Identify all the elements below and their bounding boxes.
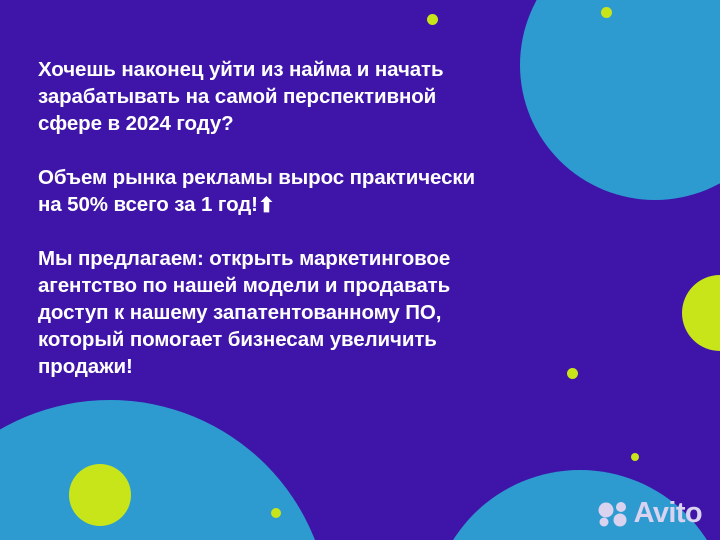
decorative-dot-bottom-left xyxy=(271,508,281,518)
decorative-dot-mid-right xyxy=(567,368,578,379)
decorative-circle-yellow-right xyxy=(682,275,720,351)
decorative-circle-yellow-bottom-left xyxy=(69,464,131,526)
paragraph-hook: Хочешь наконец уйти из найма и начать за… xyxy=(38,56,558,137)
decorative-dot-top-right xyxy=(601,7,612,18)
paragraph-stat-text: Объем рынка рекламы вырос практически на… xyxy=(38,166,475,216)
arrow-up-icon: ⬆ xyxy=(258,192,275,219)
decorative-circle-blue-bottom-left xyxy=(0,400,330,540)
avito-dots-logo-icon xyxy=(598,501,630,527)
poster-copy: Хочешь наконец уйти из найма и начать за… xyxy=(38,56,558,380)
avito-logo: Avito xyxy=(598,499,702,528)
paragraph-stat: Объем рынка рекламы вырос практически на… xyxy=(38,164,558,218)
paragraph-offer: Мы предлагаем: открыть маркетинговое аге… xyxy=(38,245,558,380)
decorative-dot-bottom-right xyxy=(631,453,639,461)
promo-poster: Хочешь наконец уйти из найма и начать за… xyxy=(0,0,720,540)
avito-wordmark: Avito xyxy=(634,499,702,528)
decorative-dot-top-center xyxy=(427,14,438,25)
